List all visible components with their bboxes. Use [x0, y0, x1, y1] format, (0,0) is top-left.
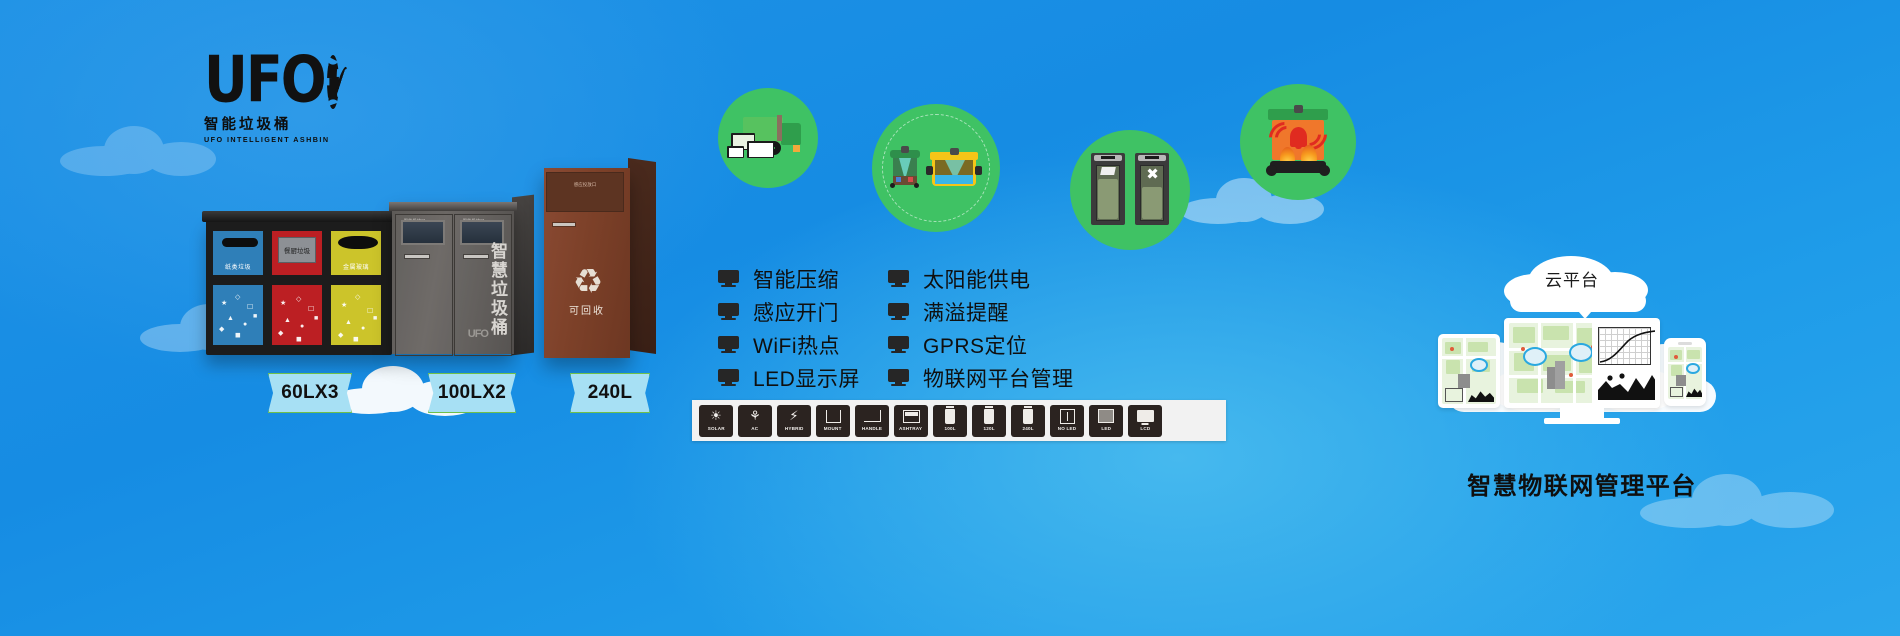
- smart-bin-screen-left: [401, 220, 445, 245]
- monitor-icon: [888, 270, 909, 287]
- platform-device-monitor[interactable]: [1504, 318, 1660, 408]
- monitor-icon: [888, 303, 909, 320]
- feature-label: WiFi热点: [753, 330, 840, 360]
- feature-label: 太阳能供电: [923, 264, 1031, 294]
- metal-slot: [338, 236, 378, 249]
- spec-label: HANDLE: [862, 426, 882, 432]
- hybrid-icon: ⚡: [780, 407, 808, 426]
- bin-panel-kitchen-lower: ★◇ ☐▲ ●■ ◆◼: [269, 282, 325, 348]
- area-chart: [1598, 372, 1655, 400]
- bin-icon: [936, 407, 964, 426]
- feature-item: 智能压缩: [718, 262, 860, 295]
- bin-panel-kitchen-upper: 餐厨垃圾: [269, 228, 325, 278]
- fire-alarm-icon: [1240, 84, 1356, 200]
- monitor-icon: [718, 336, 739, 353]
- tricolor-bin-top: [202, 211, 396, 222]
- recycle-bin-body: 感应投放口 ♻ 可回收: [544, 168, 630, 358]
- spec-label: 240L: [1022, 426, 1033, 432]
- smart-bin-brand-mark: UFO: [468, 328, 488, 340]
- recycle-bin-side: [628, 158, 656, 354]
- product-smart-bin: 智能投放口 智能投放口 智慧垃圾桶 UFO: [392, 196, 532, 356]
- bin-icon: [1014, 407, 1042, 426]
- logo-mark: UFO: [204, 52, 320, 110]
- feature-item: 太阳能供电: [888, 262, 1074, 295]
- line-chart: [1598, 327, 1655, 365]
- feature-label: 智能压缩: [753, 264, 839, 294]
- fill-level-sensor-icon: [872, 104, 1000, 232]
- feature-item: LED显示屏: [718, 361, 860, 394]
- feature-label: GPRS定位: [923, 330, 1028, 360]
- feature-circle-compression: ✖: [1070, 130, 1190, 250]
- spec-icon-strip: ☀ SOLAR ⚘ AC ⚡ HYBRID MOUNT HANDLE ASHTR…: [692, 400, 1226, 441]
- monitor-screen: [1509, 323, 1655, 403]
- bin-icon: [975, 407, 1003, 426]
- feature-label: LED显示屏: [753, 363, 860, 393]
- feature-label: 满溢提醒: [923, 297, 1009, 327]
- smart-bin-body: 智能投放口 智能投放口 智慧垃圾桶 UFO: [392, 202, 514, 354]
- monitor-chart-panel: [1592, 323, 1655, 403]
- download-arrow-icon: [1572, 304, 1598, 319]
- smart-bin-vertical-text: 智慧垃圾桶: [486, 242, 506, 337]
- spec-ashtray: ASHTRAY: [894, 405, 928, 437]
- smart-bin-roof: [389, 202, 517, 211]
- bin-panel-label: 纸类垃圾: [213, 262, 263, 271]
- spec-label: 100L: [944, 426, 955, 432]
- feature-list-right: 太阳能供电 满溢提醒 GPRS定位 物联网平台管理: [888, 262, 1074, 394]
- compression-bin-icon: ✖: [1070, 130, 1190, 250]
- spec-100l: 100L: [933, 405, 967, 437]
- feature-item: 满溢提醒: [888, 295, 1074, 328]
- mount-icon: [819, 407, 847, 426]
- spec-label: ASHTRAY: [899, 426, 922, 432]
- cloud-platform-label: 云平台: [1512, 250, 1632, 306]
- size-tag-100lx2: 100LX2: [428, 373, 516, 413]
- promo-banner: UFO 智能垃圾桶 UFO INTELLIGENT ASHBIN 纸类垃圾 餐厨…: [0, 0, 1900, 636]
- bin-panel-paper-lower: ★◇ ☐▲ ●■ ◆◼: [210, 282, 266, 348]
- phone-speaker: [1678, 342, 1692, 345]
- recycle-bin-handle: [552, 222, 576, 227]
- feature-item: WiFi热点: [718, 328, 860, 361]
- spec-120l: 120L: [972, 405, 1006, 437]
- cloud-decoration-top-left: [60, 120, 220, 180]
- platform-caption: 智慧物联网管理平台: [1432, 466, 1732, 501]
- feature-list-left: 智能压缩 感应开门 WiFi热点 LED显示屏: [718, 262, 860, 394]
- feature-item: 感应开门: [718, 295, 860, 328]
- no-led-icon: [1053, 407, 1081, 426]
- spec-ac: ⚘ AC: [738, 405, 772, 437]
- feature-circle-fire-alarm: [1240, 84, 1356, 200]
- paper-slot: [222, 238, 258, 247]
- brand-logo: UFO 智能垃圾桶 UFO INTELLIGENT ASHBIN: [204, 52, 320, 144]
- feature-circle-collection-truck: [718, 88, 818, 188]
- spec-lcd: LCD: [1128, 405, 1162, 437]
- bin-panel-label: 金属玻璃: [331, 262, 381, 271]
- garbage-truck-icon: [718, 88, 818, 188]
- size-tag-60lx3: 60LX3: [268, 373, 352, 413]
- spec-handle: HANDLE: [855, 405, 889, 437]
- logo-ring-icon: [327, 55, 339, 109]
- monitor-icon: [718, 369, 739, 386]
- spec-label: LED: [1101, 426, 1111, 432]
- product-tricolor-bin: 纸类垃圾 餐厨垃圾 金属玻璃 ★◇ ☐▲ ●■ ◆◼ ★◇ ☐▲ ●■ ◆◼ ★…: [206, 220, 392, 355]
- lcd-icon: [1131, 407, 1159, 426]
- led-icon: [1092, 407, 1120, 426]
- product-recycle-bin: 感应投放口 ♻ 可回收: [544, 168, 656, 364]
- solar-icon: ☀: [702, 407, 730, 426]
- spec-hybrid: ⚡ HYBRID: [777, 405, 811, 437]
- feature-label: 物联网平台管理: [923, 363, 1074, 393]
- handle-icon: [858, 407, 886, 426]
- feature-label: 感应开门: [753, 297, 839, 327]
- feature-item: 物联网平台管理: [888, 361, 1074, 394]
- spec-label: NO LED: [1058, 426, 1076, 432]
- tablet-map-view: [1442, 338, 1496, 404]
- spec-label: AC: [751, 426, 758, 432]
- spec-label: SOLAR: [707, 426, 724, 432]
- platform-device-phone[interactable]: [1664, 338, 1706, 406]
- recycle-bin-label: 可回收: [544, 302, 630, 317]
- smart-bin-handle-left: [404, 254, 430, 259]
- bin-panel-lcd: 餐厨垃圾: [278, 237, 316, 263]
- spec-led: LED: [1089, 405, 1123, 437]
- ashtray-icon: [897, 407, 925, 426]
- recycle-bin-hood: 感应投放口: [546, 172, 624, 212]
- logo-text: UFO: [204, 51, 325, 110]
- spec-solar: ☀ SOLAR: [699, 405, 733, 437]
- spec-label: 120L: [983, 426, 994, 432]
- platform-device-tablet[interactable]: [1438, 334, 1500, 408]
- spec-label: HYBRID: [785, 426, 804, 432]
- spec-label: LCD: [1140, 426, 1150, 432]
- iot-platform-illustration: 云平台: [1432, 250, 1732, 450]
- bin-panel-metal-upper: 金属玻璃: [328, 228, 384, 278]
- feature-circle-fill-level: [872, 104, 1000, 232]
- monitor-icon: [718, 270, 739, 287]
- spec-no-led: NO LED: [1050, 405, 1084, 437]
- bin-panel-paper-upper: 纸类垃圾: [210, 228, 266, 278]
- monitor-icon: [888, 369, 909, 386]
- monitor-base: [1544, 418, 1620, 424]
- spec-label: MOUNT: [824, 426, 842, 432]
- phone-map-view: [1668, 347, 1702, 399]
- monitor-map-view: [1509, 323, 1592, 403]
- monitor-icon: [718, 303, 739, 320]
- bin-panel-metal-lower: ★◇ ☐▲ ●■ ◆◼: [328, 282, 384, 348]
- logo-english-name: UFO INTELLIGENT ASHBIN: [204, 135, 320, 144]
- smart-bin-side: [512, 195, 534, 356]
- recycle-bin-hood-label: 感应投放口: [547, 181, 623, 189]
- monitor-icon: [888, 336, 909, 353]
- size-tag-240l: 240L: [570, 373, 650, 413]
- recycle-icon: ♻: [568, 264, 608, 300]
- spec-mount: MOUNT: [816, 405, 850, 437]
- plug-icon: ⚘: [741, 407, 769, 426]
- feature-item: GPRS定位: [888, 328, 1074, 361]
- spec-240l: 240L: [1011, 405, 1045, 437]
